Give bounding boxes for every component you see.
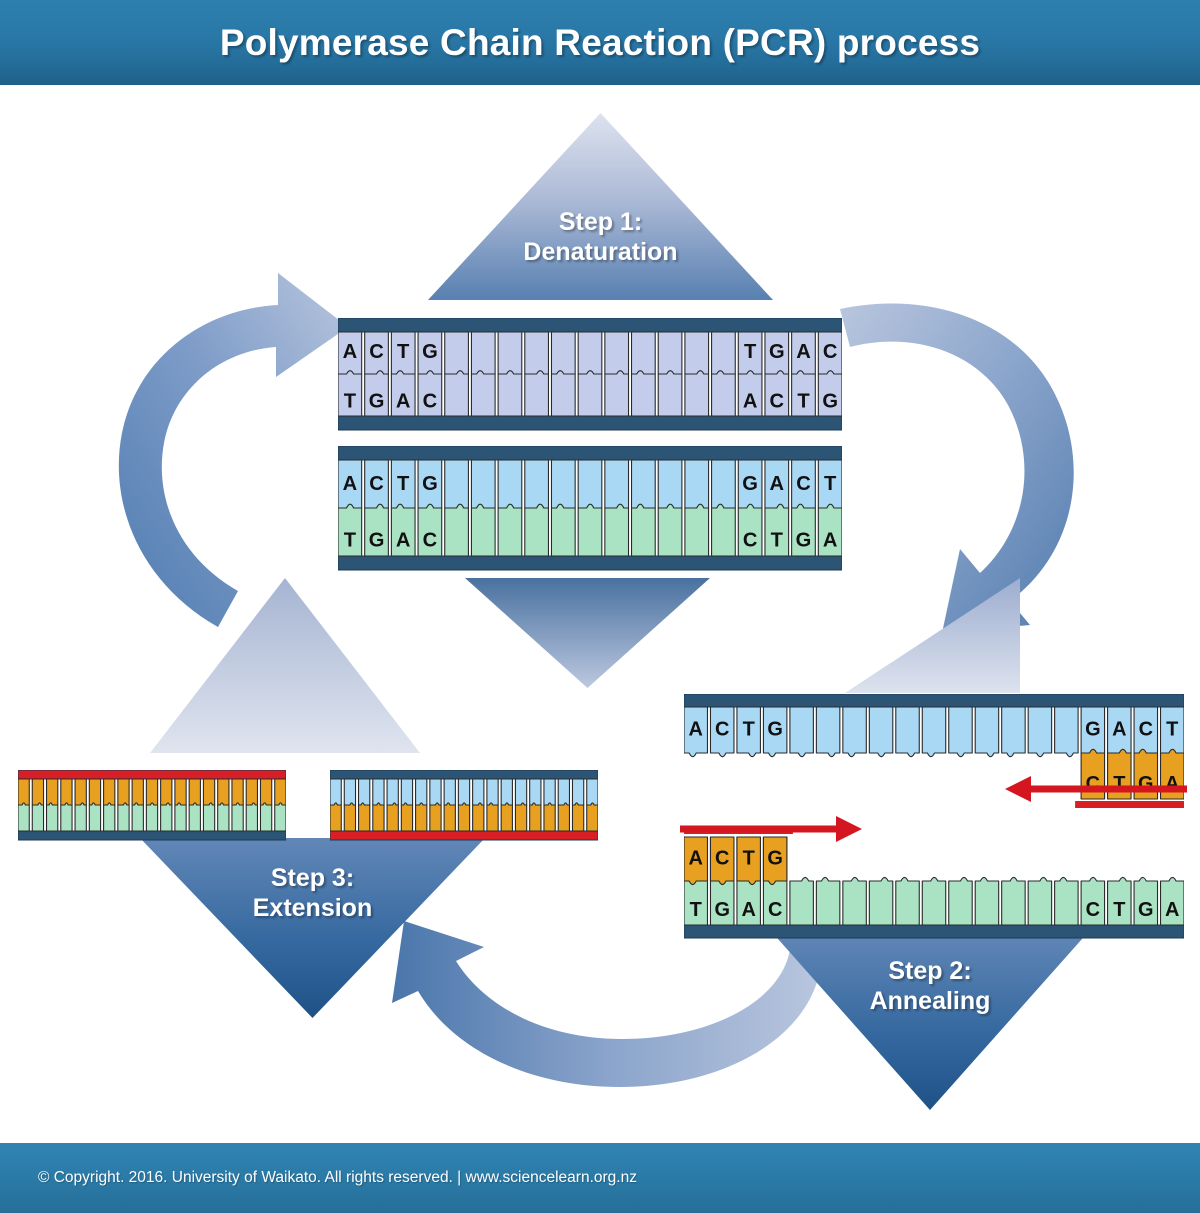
footer-bar: © Copyright. 2016. University of Waikato… <box>0 1143 1200 1213</box>
svg-text:A: A <box>396 529 411 551</box>
svg-text:C: C <box>423 391 438 413</box>
decorative-triangle-center-down <box>465 578 710 688</box>
svg-text:C: C <box>369 341 384 363</box>
svg-text:A: A <box>343 473 358 495</box>
svg-text:T: T <box>743 719 755 741</box>
header-bar: Polymerase Chain Reaction (PCR) process <box>0 0 1200 85</box>
double-stranded-template-graphic: ATCGTAGCTAGCATCG <box>338 318 842 432</box>
svg-text:T: T <box>797 391 810 413</box>
svg-text:T: T <box>690 899 702 921</box>
svg-text:A: A <box>741 899 755 921</box>
svg-text:A: A <box>1165 899 1179 921</box>
svg-text:A: A <box>823 529 838 551</box>
svg-text:C: C <box>770 391 785 413</box>
step2-triangle[interactable]: Step 2: Annealing <box>770 930 1090 1110</box>
dna-extension-product-left <box>18 770 286 842</box>
svg-text:T: T <box>397 341 410 363</box>
svg-text:G: G <box>822 391 838 413</box>
svg-text:A: A <box>396 391 411 413</box>
svg-text:C: C <box>823 341 838 363</box>
svg-text:G: G <box>1085 719 1101 741</box>
dna-separated-strands: ATCGTAGCGCATCGTA <box>338 446 842 572</box>
svg-text:G: G <box>769 341 785 363</box>
svg-text:G: G <box>742 473 758 495</box>
svg-text:A: A <box>689 847 703 869</box>
svg-text:C: C <box>1086 899 1100 921</box>
separated-strands-graphic: ATCGTAGCGCATCGTA <box>338 446 842 572</box>
primer-direction-arrow-right <box>680 812 862 846</box>
svg-text:G: G <box>369 391 385 413</box>
svg-text:C: C <box>715 847 729 869</box>
svg-text:A: A <box>343 341 358 363</box>
svg-text:G: G <box>422 473 438 495</box>
svg-text:C: C <box>369 473 384 495</box>
svg-text:C: C <box>1139 719 1153 741</box>
decorative-triangle-left-up <box>150 578 420 753</box>
svg-text:C: C <box>423 529 438 551</box>
svg-text:A: A <box>770 473 785 495</box>
svg-text:A: A <box>1112 719 1126 741</box>
svg-text:T: T <box>743 847 755 869</box>
decorative-triangle-right-up <box>845 578 1020 693</box>
step3-triangle[interactable]: Step 3: Extension <box>140 838 485 1018</box>
extension-product-left-graphic <box>18 770 286 842</box>
svg-text:T: T <box>344 391 357 413</box>
svg-text:T: T <box>397 473 410 495</box>
svg-text:G: G <box>796 529 812 551</box>
svg-text:C: C <box>768 899 782 921</box>
svg-text:C: C <box>796 473 811 495</box>
svg-text:G: G <box>422 341 438 363</box>
extension-product-right-graphic <box>330 770 598 842</box>
svg-text:T: T <box>1113 899 1125 921</box>
svg-text:T: T <box>1166 719 1178 741</box>
copyright-text: © Copyright. 2016. University of Waikato… <box>38 1169 637 1187</box>
step1-triangle[interactable]: Step 1: Denaturation <box>428 113 773 300</box>
svg-text:C: C <box>715 719 729 741</box>
primer-direction-arrow-left <box>1005 772 1187 806</box>
svg-text:T: T <box>344 529 357 551</box>
svg-text:G: G <box>1138 899 1154 921</box>
dna-double-stranded-template: ATCGTAGCTAGCATCG <box>338 318 842 432</box>
svg-text:T: T <box>824 473 837 495</box>
svg-text:A: A <box>743 391 758 413</box>
pcr-diagram: Polymerase Chain Reaction (PCR) process <box>0 0 1200 1213</box>
svg-text:A: A <box>796 341 811 363</box>
svg-text:T: T <box>744 341 757 363</box>
dna-extension-product-right <box>330 770 598 842</box>
svg-text:C: C <box>743 529 758 551</box>
svg-text:G: G <box>369 529 385 551</box>
svg-text:A: A <box>689 719 703 741</box>
svg-text:T: T <box>771 529 784 551</box>
svg-text:G: G <box>767 847 783 869</box>
svg-text:G: G <box>767 719 783 741</box>
svg-text:G: G <box>714 899 730 921</box>
page-title: Polymerase Chain Reaction (PCR) process <box>220 22 980 64</box>
